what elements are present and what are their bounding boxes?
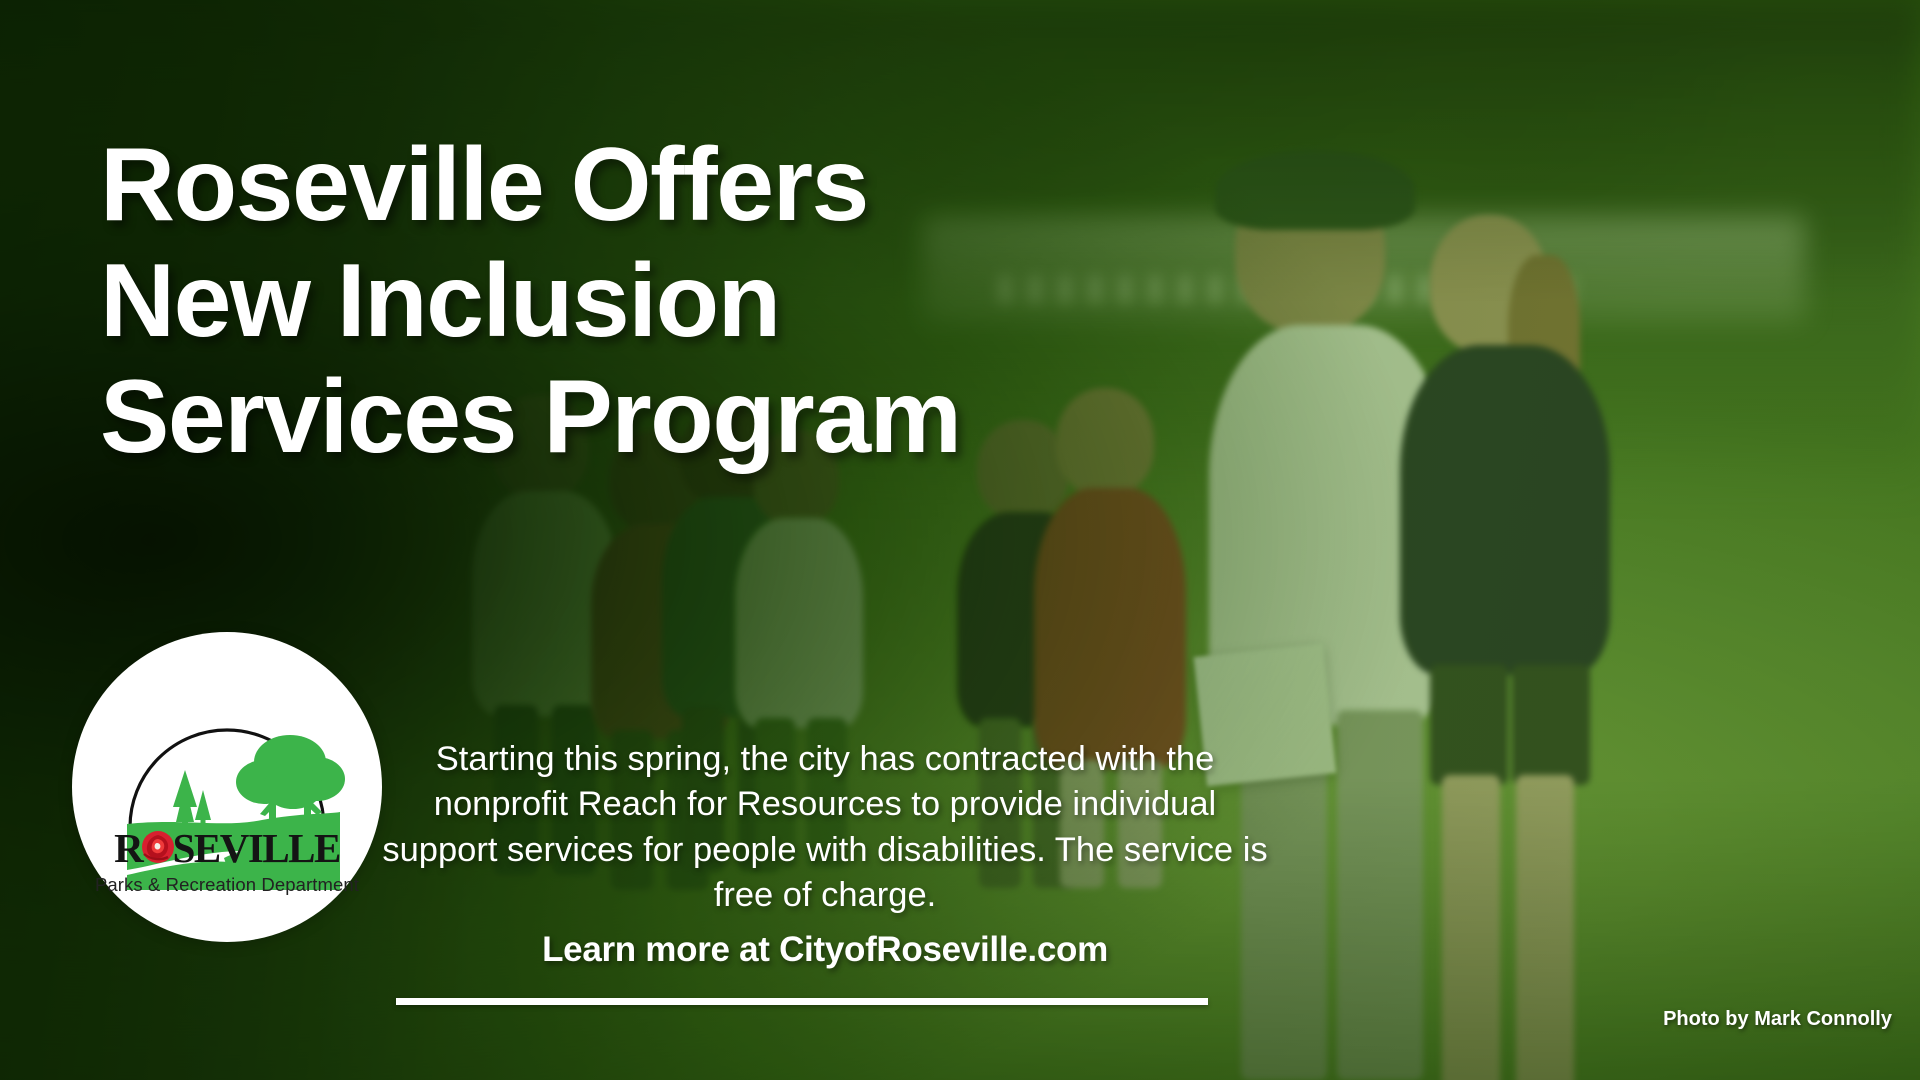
poster-canvas: Roseville Offers New Inclusion Services … bbox=[0, 0, 1920, 1080]
body-paragraph: Starting this spring, the city has contr… bbox=[380, 737, 1270, 919]
photo-credit: Photo by Mark Connolly bbox=[1663, 1008, 1892, 1031]
roseville-parks-recreation-logo: ROSEVILLE Parks & Recreation Department bbox=[72, 632, 382, 942]
call-to-action-text[interactable]: Learn more at CityofRoseville.com bbox=[380, 930, 1270, 970]
logo-tagline: Parks & Recreation Department bbox=[72, 874, 382, 896]
logo-wordmark-row: ROSEVILLE bbox=[72, 828, 382, 869]
page-title: Roseville Offers New Inclusion Services … bbox=[100, 128, 1350, 476]
cta-underline-rule bbox=[396, 998, 1208, 1005]
rose-icon bbox=[138, 828, 178, 868]
